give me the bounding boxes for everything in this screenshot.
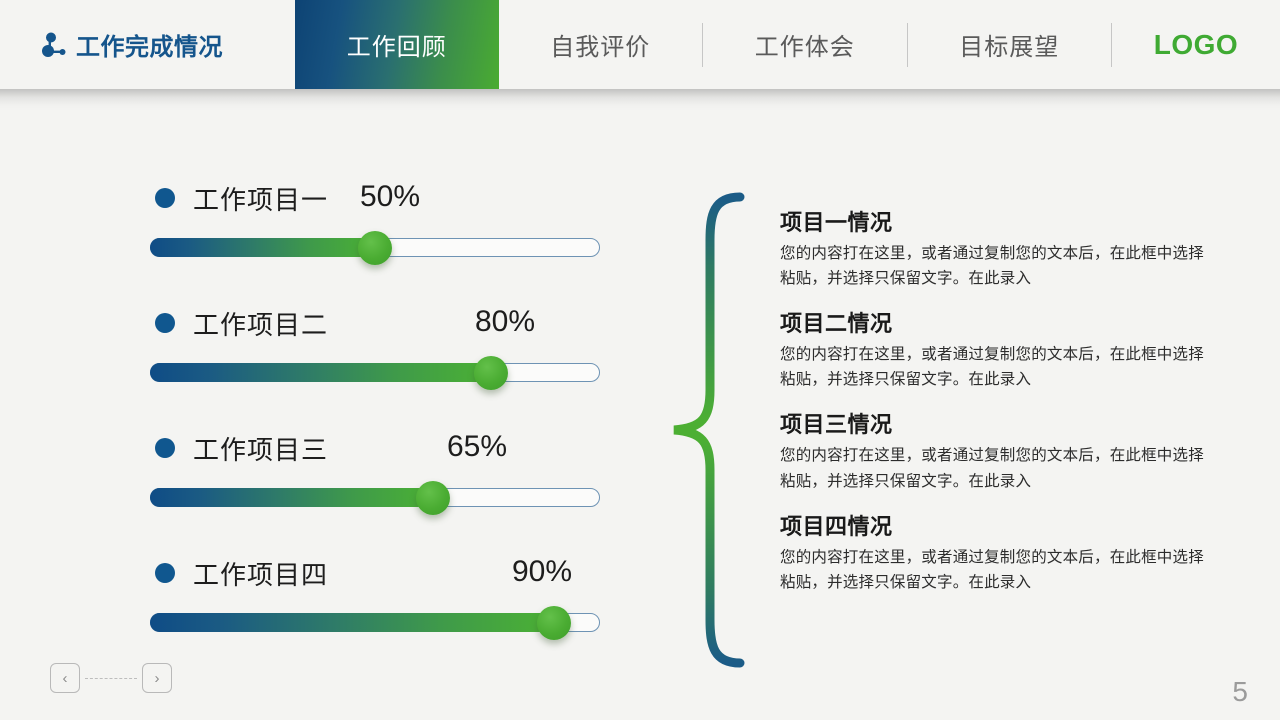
progress-fill xyxy=(150,488,432,507)
note-title: 项目一情况 xyxy=(780,205,1205,237)
progress-value: 50% xyxy=(360,180,420,214)
progress-item: 工作项目四 90% xyxy=(150,553,600,678)
network-node-icon xyxy=(40,30,70,60)
tab-label: 目标展望 xyxy=(959,27,1059,62)
progress-header: 工作项目四 90% xyxy=(150,553,600,593)
logo-slot: LOGO xyxy=(1112,0,1280,89)
progress-label: 工作项目四 xyxy=(193,555,328,592)
progress-label: 工作项目一 xyxy=(193,180,328,217)
progress-header: 工作项目二 80% xyxy=(150,303,600,343)
curly-brace-icon xyxy=(662,192,748,668)
note-title: 项目三情况 xyxy=(780,407,1205,439)
tab-label: 工作体会 xyxy=(755,27,855,62)
tab-self-evaluation[interactable]: 自我评价 xyxy=(499,0,703,89)
progress-track[interactable] xyxy=(150,613,600,632)
note-item: 项目三情况 您的内容打在这里，或者通过复制您的文本后，在此框中选择粘贴，并选择只… xyxy=(780,407,1205,493)
header-shadow xyxy=(0,89,1280,111)
note-body: 您的内容打在这里，或者通过复制您的文本后，在此框中选择粘贴，并选择只保留文字。在… xyxy=(780,241,1205,291)
brand-title: 工作完成情况 xyxy=(76,27,223,62)
progress-label: 工作项目二 xyxy=(193,305,328,342)
progress-value: 90% xyxy=(512,555,572,589)
progress-fill xyxy=(150,238,374,257)
prev-slide-button[interactable]: ‹ xyxy=(50,663,80,693)
tab-label: 工作回顾 xyxy=(347,27,447,62)
bullet-icon xyxy=(155,438,175,458)
next-slide-button[interactable]: › xyxy=(142,663,172,693)
page-number: 5 xyxy=(1232,676,1248,708)
note-title: 项目二情况 xyxy=(780,306,1205,338)
tab-work-experience[interactable]: 工作体会 xyxy=(703,0,907,89)
note-body: 您的内容打在这里，或者通过复制您的文本后，在此框中选择粘贴，并选择只保留文字。在… xyxy=(780,545,1205,595)
progress-fill xyxy=(150,613,553,632)
note-body: 您的内容打在这里，或者通过复制您的文本后，在此框中选择粘贴，并选择只保留文字。在… xyxy=(780,342,1205,392)
bullet-icon xyxy=(155,313,175,333)
note-item: 项目四情况 您的内容打在这里，或者通过复制您的文本后，在此框中选择粘贴，并选择只… xyxy=(780,509,1205,595)
progress-knob[interactable] xyxy=(416,481,450,515)
progress-track[interactable] xyxy=(150,238,600,257)
progress-knob[interactable] xyxy=(474,356,508,390)
main-nav: 工作回顾 自我评价 工作体会 目标展望 LOGO xyxy=(295,0,1280,89)
bullet-icon xyxy=(155,188,175,208)
progress-item: 工作项目二 80% xyxy=(150,303,600,428)
note-title: 项目四情况 xyxy=(780,509,1205,541)
notes-panel: 项目一情况 您的内容打在这里，或者通过复制您的文本后，在此框中选择粘贴，并选择只… xyxy=(780,205,1205,595)
progress-item: 工作项目三 65% xyxy=(150,428,600,553)
brand: 工作完成情况 xyxy=(0,0,295,89)
progress-header: 工作项目三 65% xyxy=(150,428,600,468)
note-body: 您的内容打在这里，或者通过复制您的文本后，在此框中选择粘贴，并选择只保留文字。在… xyxy=(780,443,1205,493)
pager-connector xyxy=(85,678,137,679)
progress-bar-chart: 工作项目一 50% 工作项目二 80% 工作项目三 65% xyxy=(150,178,600,678)
progress-label: 工作项目三 xyxy=(193,430,328,467)
tab-label: 自我评价 xyxy=(550,27,650,62)
slide-pager: ‹ › xyxy=(50,663,172,693)
chevron-left-icon: ‹ xyxy=(63,671,68,686)
progress-fill xyxy=(150,363,490,382)
progress-track[interactable] xyxy=(150,363,600,382)
logo-text: LOGO xyxy=(1154,29,1238,61)
tab-work-review[interactable]: 工作回顾 xyxy=(295,0,499,89)
progress-knob[interactable] xyxy=(358,231,392,265)
note-item: 项目一情况 您的内容打在这里，或者通过复制您的文本后，在此框中选择粘贴，并选择只… xyxy=(780,205,1205,291)
top-header: 工作完成情况 工作回顾 自我评价 工作体会 目标展望 LOGO xyxy=(0,0,1280,89)
note-item: 项目二情况 您的内容打在这里，或者通过复制您的文本后，在此框中选择粘贴，并选择只… xyxy=(780,306,1205,392)
progress-item: 工作项目一 50% xyxy=(150,178,600,303)
bullet-icon xyxy=(155,563,175,583)
progress-value: 65% xyxy=(447,430,507,464)
progress-header: 工作项目一 50% xyxy=(150,178,600,218)
progress-knob[interactable] xyxy=(537,606,571,640)
tab-goal-outlook[interactable]: 目标展望 xyxy=(908,0,1112,89)
chevron-right-icon: › xyxy=(155,671,160,686)
progress-value: 80% xyxy=(475,305,535,339)
progress-track[interactable] xyxy=(150,488,600,507)
